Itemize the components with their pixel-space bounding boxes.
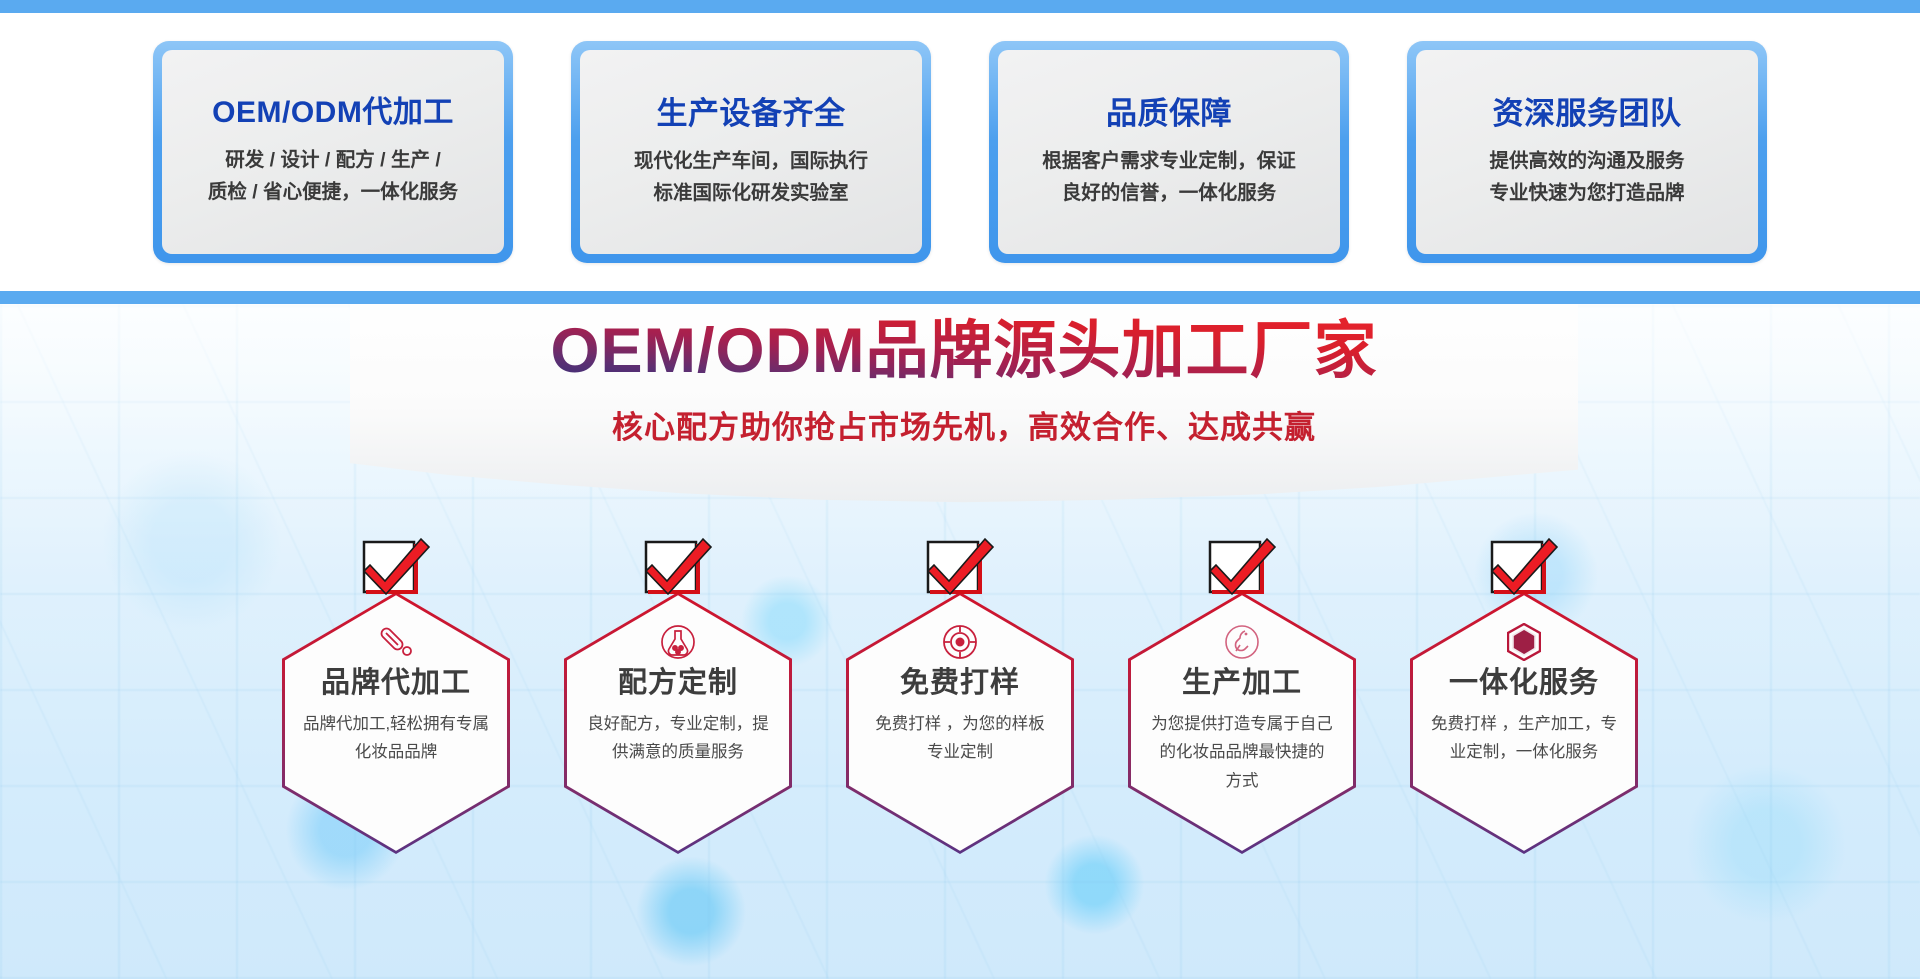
banner-subtitle: 核心配方助你抢占市场先机，高效合作、达成共赢 — [612, 402, 1316, 447]
process-title-2: 配方定制 — [618, 668, 738, 700]
feature-card-4-inner: 资深服务团队 提供高效的沟通及服务 专业快速为您打造品牌 — [1416, 50, 1758, 254]
feature-card-2-title: 生产设备齐全 — [657, 95, 846, 132]
feature-card-4-desc-line2: 专业快速为您打造品牌 — [1489, 178, 1684, 210]
feature-card-2-inner: 生产设备齐全 现代化生产车间，国际执行 标准国际化研发实验室 — [580, 50, 922, 254]
feature-card-2-desc-line2: 标准国际化研发实验室 — [653, 178, 848, 210]
feature-card-1-title: OEM/ODM代加工 — [212, 95, 454, 131]
process-desc-5-line2: 业定制，一体化服务 — [1426, 738, 1622, 766]
feature-card-3-desc-line1: 根据客户需求专业定制，保证 — [1042, 146, 1296, 178]
process-section: OEM/ODM品牌源头加工厂家 核心配方助你抢占市场先机，高效合作、达成共赢 — [0, 304, 1920, 979]
process-desc-1: 品牌代加工,轻松拥有专属 化妆品品牌 — [298, 710, 494, 767]
red-checkmark-icon — [359, 534, 433, 602]
flask-icon — [659, 622, 697, 662]
feature-card-3-inner: 品质保障 根据客户需求专业定制，保证 良好的信誉，一体化服务 — [998, 50, 1340, 254]
feature-card-2-desc-line1: 现代化生产车间，国际执行 — [634, 146, 868, 178]
process-hexagon-3: 免费打样 免费打样 ，为您的样板 专业定制 — [846, 592, 1074, 854]
brush-icon — [377, 622, 415, 662]
red-checkmark-icon — [641, 534, 715, 602]
hexagon-icon — [1507, 622, 1541, 662]
process-desc-3-line2: 专业定制 — [862, 738, 1058, 766]
feature-card-1-desc-line1: 研发 / 设计 / 配方 / 生产 / — [225, 145, 441, 177]
feature-card-4[interactable]: 资深服务团队 提供高效的沟通及服务 专业快速为您打造品牌 — [1407, 41, 1767, 263]
spray-icon — [1223, 622, 1261, 662]
process-title-4: 生产加工 — [1182, 668, 1302, 700]
feature-card-3-title: 品质保障 — [1106, 95, 1232, 132]
process-hexagon-1: 品牌代加工 品牌代加工,轻松拥有专属 化妆品品牌 — [282, 592, 510, 854]
process-hexagon-5: 一体化服务 免费打样 ，生产加工，专 业定制，一体化服务 — [1410, 592, 1638, 854]
process-desc-4: 为您提供打造专属于自己 的化妆品品牌最快捷的 方式 — [1144, 710, 1340, 795]
feature-card-3-desc-line2: 良好的信誉，一体化服务 — [1062, 178, 1277, 210]
process-desc-4-line2: 的化妆品品牌最快捷的 — [1144, 738, 1340, 766]
process-desc-2: 良好配方，专业定制，提 供满意的质量服务 — [580, 710, 776, 767]
process-desc-2-line2: 供满意的质量服务 — [580, 738, 776, 766]
process-title-5: 一体化服务 — [1449, 668, 1599, 700]
feature-cards-section: OEM/ODM代加工 研发 / 设计 / 配方 / 生产 / 质检 / 省心便捷… — [0, 13, 1920, 291]
red-checkmark-icon — [1205, 534, 1279, 602]
feature-card-1-inner: OEM/ODM代加工 研发 / 设计 / 配方 / 生产 / 质检 / 省心便捷… — [162, 50, 504, 254]
red-checkmark-icon — [923, 534, 997, 602]
section-divider-bar — [0, 291, 1920, 304]
process-hexagon-4: 生产加工 为您提供打造专属于自己 的化妆品品牌最快捷的 方式 — [1128, 592, 1356, 854]
feature-cards-row: OEM/ODM代加工 研发 / 设计 / 配方 / 生产 / 质检 / 省心便捷… — [0, 13, 1920, 291]
banner-title: OEM/ODM品牌源头加工厂家 — [551, 315, 1378, 388]
process-hexagon-row: 品牌代加工 品牌代加工,轻松拥有专属 化妆品品牌 — [0, 534, 1920, 974]
top-accent-bar — [0, 0, 1920, 13]
process-desc-5-line1: 免费打样 ，生产加工，专 — [1426, 710, 1622, 738]
feature-card-3[interactable]: 品质保障 根据客户需求专业定制，保证 良好的信誉，一体化服务 — [989, 41, 1349, 263]
process-item-production[interactable]: 生产加工 为您提供打造专属于自己 的化妆品品牌最快捷的 方式 — [1128, 534, 1356, 954]
process-desc-2-line1: 良好配方，专业定制，提 — [580, 710, 776, 738]
process-desc-1-line2: 化妆品品牌 — [298, 738, 494, 766]
process-title-1: 品牌代加工 — [321, 668, 471, 700]
feature-card-1-desc-line2: 质检 / 省心便捷，一体化服务 — [208, 177, 458, 209]
feature-card-2[interactable]: 生产设备齐全 现代化生产车间，国际执行 标准国际化研发实验室 — [571, 41, 931, 263]
process-title-3: 免费打样 — [900, 668, 1020, 700]
process-desc-3-line1: 免费打样 ，为您的样板 — [862, 710, 1058, 738]
process-desc-1-line1: 品牌代加工,轻松拥有专属 — [298, 710, 494, 738]
process-item-brand-oem[interactable]: 品牌代加工 品牌代加工,轻松拥有专属 化妆品品牌 — [282, 534, 510, 954]
feature-card-4-desc-line1: 提供高效的沟通及服务 — [1489, 146, 1684, 178]
process-item-free-sample[interactable]: 免费打样 免费打样 ，为您的样板 专业定制 — [846, 534, 1074, 954]
target-icon — [941, 622, 979, 662]
process-item-one-stop-service[interactable]: 一体化服务 免费打样 ，生产加工，专 业定制，一体化服务 — [1410, 534, 1638, 954]
process-item-formula-custom[interactable]: 配方定制 良好配方，专业定制，提 供满意的质量服务 — [564, 534, 792, 954]
feature-card-4-title: 资深服务团队 — [1493, 95, 1682, 132]
process-desc-4-line3: 方式 — [1144, 767, 1340, 795]
process-hexagon-2: 配方定制 良好配方，专业定制，提 供满意的质量服务 — [564, 592, 792, 854]
process-desc-4-line1: 为您提供打造专属于自己 — [1144, 710, 1340, 738]
process-desc-3: 免费打样 ，为您的样板 专业定制 — [862, 710, 1058, 767]
feature-card-1[interactable]: OEM/ODM代加工 研发 / 设计 / 配方 / 生产 / 质检 / 省心便捷… — [153, 41, 513, 263]
process-desc-5: 免费打样 ，生产加工，专 业定制，一体化服务 — [1426, 710, 1622, 767]
red-checkmark-icon — [1487, 534, 1561, 602]
banner-ribbon: OEM/ODM品牌源头加工厂家 核心配方助你抢占市场先机，高效合作、达成共赢 — [350, 304, 1578, 504]
